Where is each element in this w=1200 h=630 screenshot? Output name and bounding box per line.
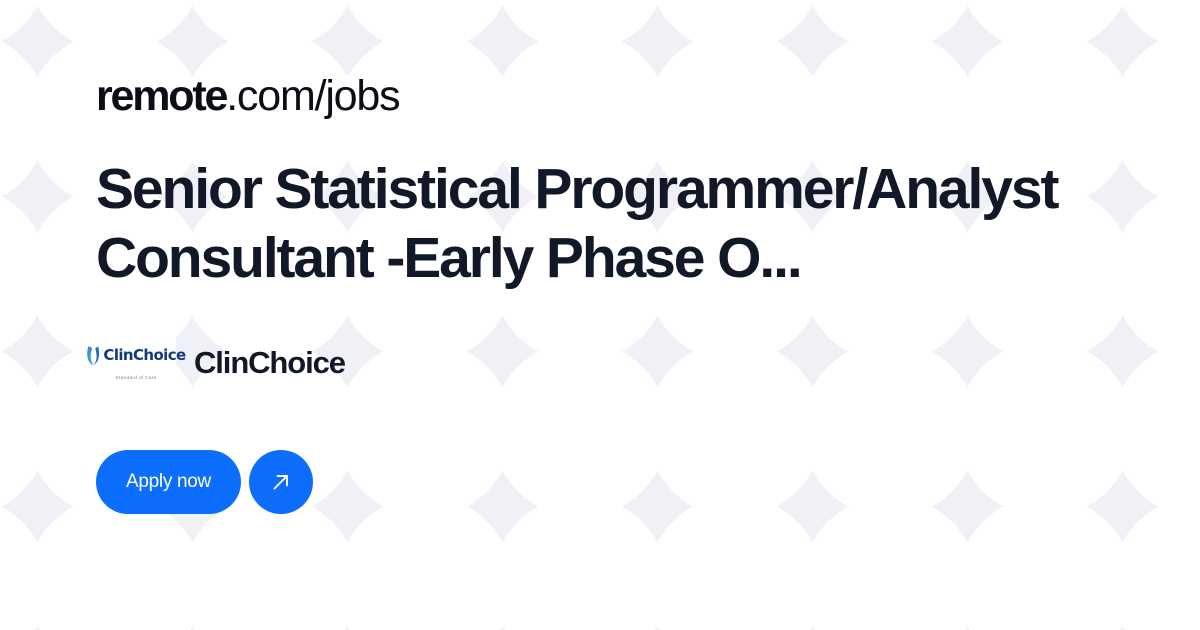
- brand-name: remote: [96, 74, 226, 119]
- open-external-button[interactable]: [249, 450, 313, 514]
- company-name: ClinChoice: [194, 347, 345, 378]
- company-row: ClinChoice Standard of Care ClinChoice: [96, 330, 1104, 396]
- actions-row: Apply now: [96, 450, 1104, 514]
- company-logo-wordmark: ClinChoice: [103, 348, 185, 363]
- clinchoice-flame-icon: [86, 345, 101, 366]
- company-logo: ClinChoice Standard of Care: [96, 332, 176, 394]
- apply-now-button[interactable]: Apply now: [96, 450, 241, 514]
- arrow-up-right-icon: [268, 469, 294, 495]
- page-title: Senior Statistical Programmer/Analyst Co…: [96, 155, 1106, 292]
- brand-wordmark: remote.com/jobs: [96, 74, 1104, 119]
- company-logo-lockup: ClinChoice: [86, 344, 185, 366]
- brand-domain-path: .com/jobs: [226, 74, 399, 119]
- company-logo-tagline: Standard of Care: [115, 376, 156, 381]
- job-share-card: remote.com/jobs Senior Statistical Progr…: [0, 0, 1200, 630]
